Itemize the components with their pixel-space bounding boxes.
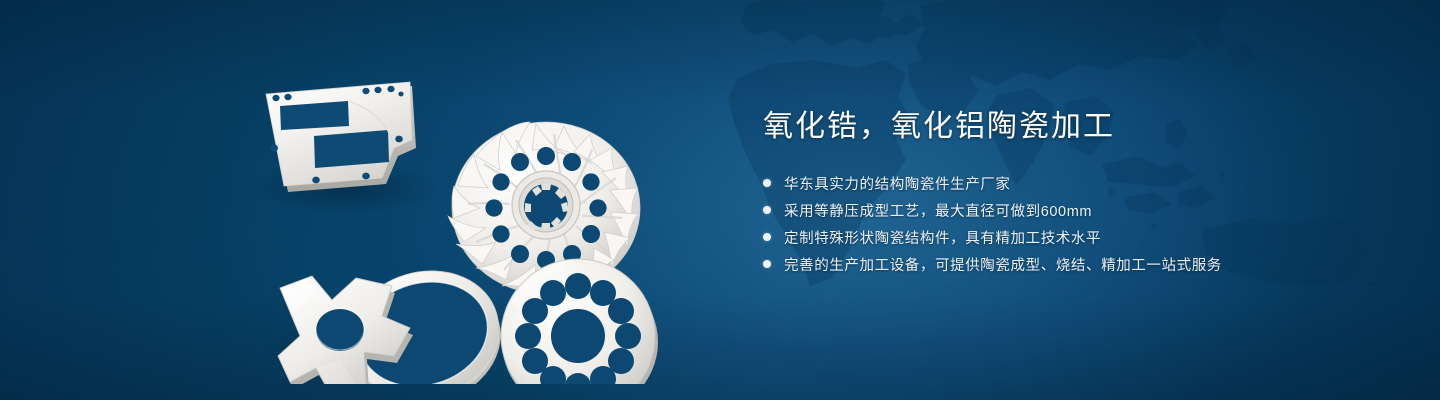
bullet-dot-icon bbox=[763, 260, 771, 268]
list-item: 华东具实力的结构陶瓷件生产厂家 bbox=[763, 170, 1323, 197]
feature-list: 华东具实力的结构陶瓷件生产厂家 采用等静压成型工艺，最大直径可做到600mm 定… bbox=[763, 170, 1323, 278]
hero-banner: 氧化锆，氧化铝陶瓷加工 华东具实力的结构陶瓷件生产厂家 采用等静压成型工艺，最大… bbox=[0, 0, 1440, 400]
list-item-label: 完善的生产加工设备，可提供陶瓷成型、烧结、精加工一站式服务 bbox=[784, 254, 1222, 275]
ceramic-products-image bbox=[228, 36, 708, 384]
list-item: 采用等静压成型工艺，最大直径可做到600mm bbox=[763, 197, 1323, 224]
list-item: 定制特殊形状陶瓷结构件，具有精加工技术水平 bbox=[763, 224, 1323, 251]
list-item-label: 华东具实力的结构陶瓷件生产厂家 bbox=[784, 173, 1011, 194]
bullet-dot-icon bbox=[763, 233, 771, 241]
bullet-dot-icon bbox=[763, 179, 771, 187]
bullet-dot-icon bbox=[763, 206, 771, 214]
list-item-label: 采用等静压成型工艺，最大直径可做到600mm bbox=[784, 200, 1092, 221]
list-item-label: 定制特殊形状陶瓷结构件，具有精加工技术水平 bbox=[784, 227, 1101, 248]
hero-copy: 氧化锆，氧化铝陶瓷加工 华东具实力的结构陶瓷件生产厂家 采用等静压成型工艺，最大… bbox=[763, 108, 1323, 278]
list-item: 完善的生产加工设备，可提供陶瓷成型、烧结、精加工一站式服务 bbox=[763, 251, 1323, 278]
page-title: 氧化锆，氧化铝陶瓷加工 bbox=[763, 108, 1323, 146]
